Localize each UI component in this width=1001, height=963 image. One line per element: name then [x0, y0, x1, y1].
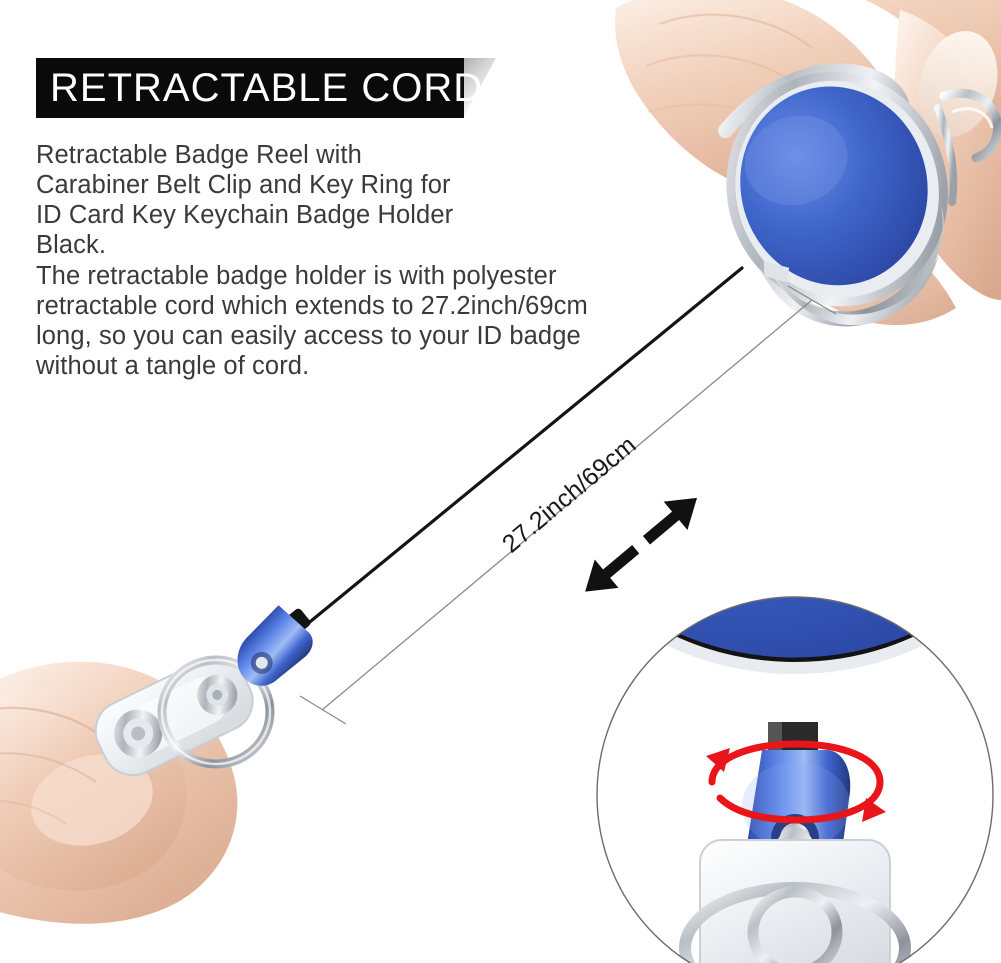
dimension-tick-top — [788, 286, 836, 314]
description-paragraph-2: The retractable badge holder is with pol… — [36, 261, 636, 381]
infographic-canvas: 27.2inch/69cm RETRACTABLE CORD Retractab… — [0, 0, 1001, 963]
description-paragraph-1: Retractable Badge Reel with Carabiner Be… — [36, 140, 466, 260]
dimension-tick-bottom — [300, 696, 346, 724]
double-headed-arrow-icon — [573, 484, 709, 606]
page-title: RETRACTABLE CORD — [50, 68, 483, 108]
title-banner: RETRACTABLE CORD — [36, 58, 464, 118]
